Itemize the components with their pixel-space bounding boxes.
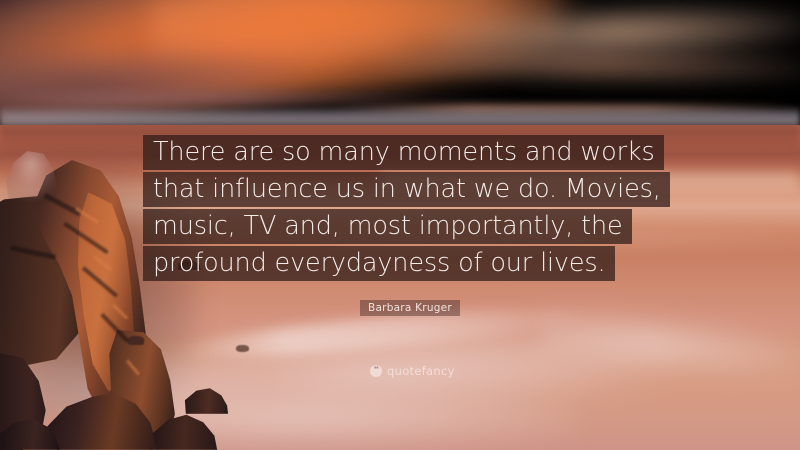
quote-badge-glyph: ❝ bbox=[374, 366, 379, 375]
peach-cloud-wisp-lower bbox=[380, 42, 800, 87]
distant-rock bbox=[128, 336, 144, 345]
quote-text-block: There are so many moments and works that… bbox=[143, 135, 663, 283]
quotefancy-watermark: ❝ quotefancy bbox=[370, 364, 455, 378]
quote-author: Barbara Kruger bbox=[360, 300, 460, 316]
quote-badge-icon: ❝ bbox=[370, 365, 382, 377]
quote-line: There are so many moments and works bbox=[143, 135, 664, 170]
quote-line: profound everydayness of our lives. bbox=[143, 246, 615, 281]
quote-image-canvas: There are so many moments and works that… bbox=[0, 0, 800, 450]
quote-line: that influence us in what we do. Movies, bbox=[143, 172, 670, 207]
quote-line: music, TV and, most importantly, the bbox=[143, 209, 632, 244]
distant-rock bbox=[236, 345, 249, 352]
watermark-brand-label: quotefancy bbox=[387, 364, 455, 378]
